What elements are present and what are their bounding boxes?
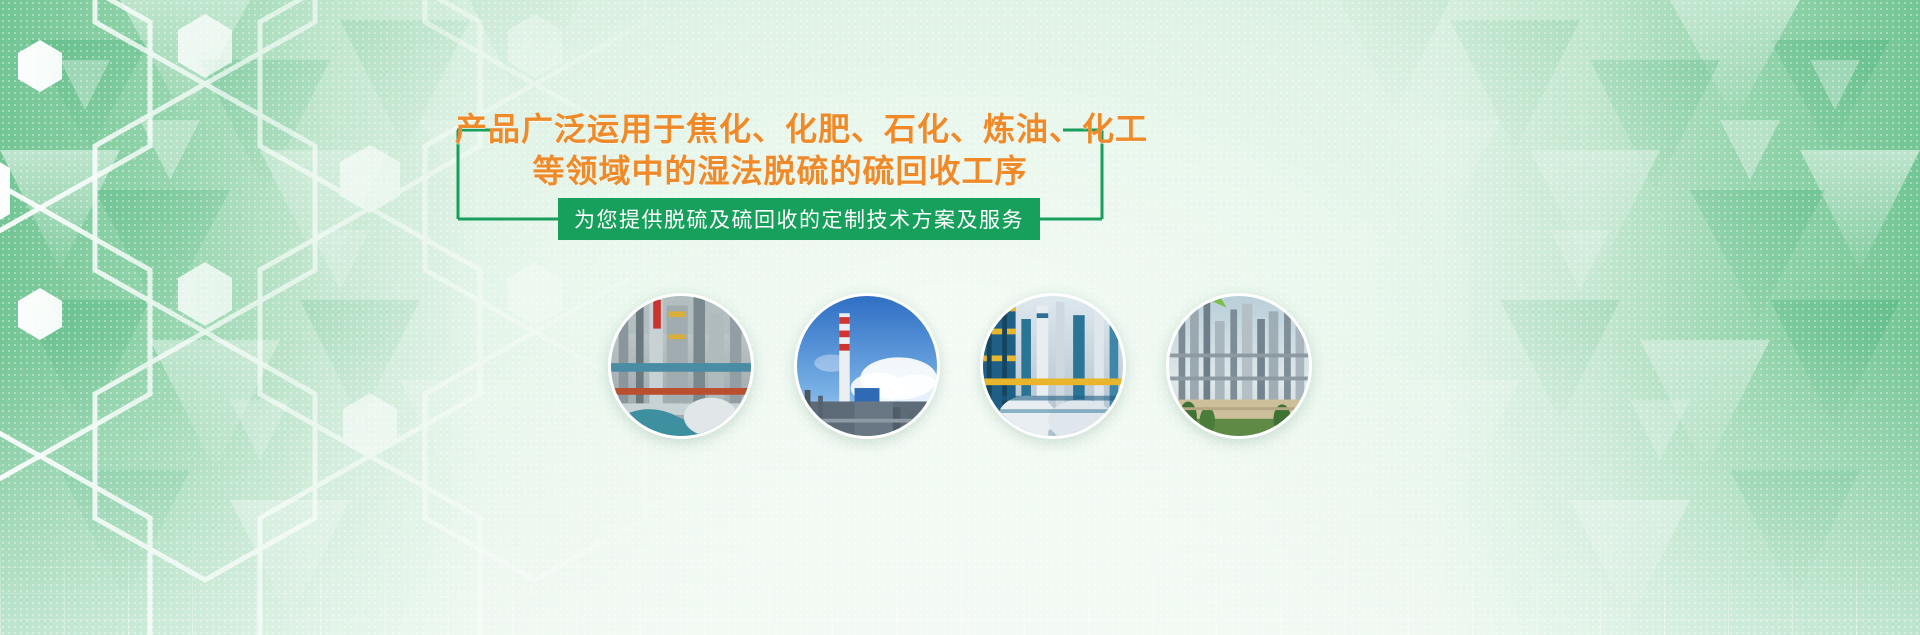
subtitle-bar: 为您提供脱硫及硫回收的定制技术方案及服务 — [558, 198, 1040, 240]
photo-strip — [0, 293, 1920, 439]
hero-banner: 产品广泛运用于焦化、化肥、石化、炼油、化工 等领域中的湿法脱硫的硫回收工序 为您… — [0, 0, 1920, 635]
banner-headline: 产品广泛运用于焦化、化肥、石化、炼油、化工 等领域中的湿法脱硫的硫回收工序 — [455, 108, 1105, 192]
headline-line-2: 等领域中的湿法脱硫的硫回收工序 — [455, 150, 1105, 192]
photo-desulfurization-plant-piping[interactable] — [608, 293, 754, 439]
perspective-grid — [0, 515, 1920, 635]
photo-sulfur-recovery-vessels[interactable] — [980, 293, 1126, 439]
headline-line-1: 产品广泛运用于焦化、化肥、石化、炼油、化工 — [455, 108, 1105, 150]
subtitle-text: 为您提供脱硫及硫回收的定制技术方案及服务 — [574, 204, 1024, 234]
photo-refinery-stack-blue-sky[interactable] — [794, 293, 940, 439]
photo-petrochemical-towers[interactable] — [1166, 293, 1312, 439]
